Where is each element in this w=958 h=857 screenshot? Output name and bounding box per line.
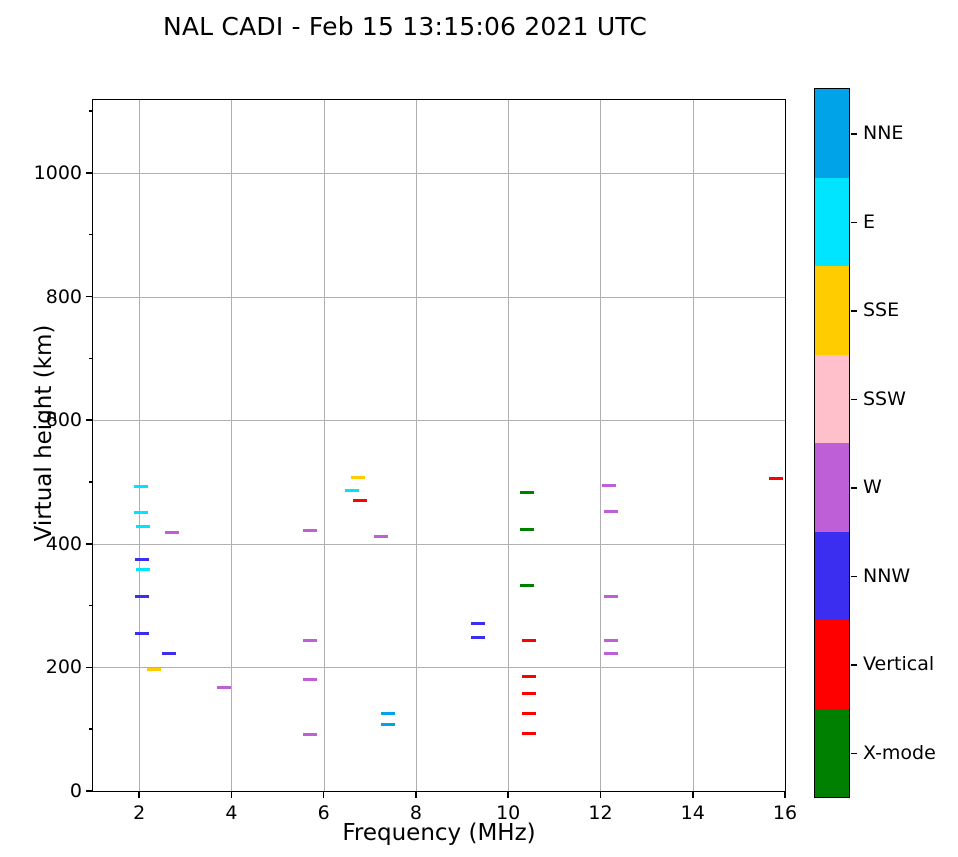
data-mark-w — [604, 639, 618, 642]
data-mark-nne — [381, 723, 395, 726]
data-mark-w — [374, 535, 388, 538]
colorbar-segment-nnw[interactable] — [815, 532, 849, 621]
plot-area: 02004006008001000246810121416 — [92, 99, 786, 792]
x-axis-tick — [138, 791, 140, 798]
data-mark-nnw — [162, 652, 176, 655]
colorbar-tick — [851, 487, 857, 488]
x-axis-tick — [784, 791, 786, 798]
colorbar-label-x-mode: X-mode — [863, 742, 936, 764]
colorbar-segment-vertical[interactable] — [815, 620, 849, 709]
y-axis-tick-label: 0 — [70, 780, 82, 802]
data-mark-w — [604, 510, 618, 513]
data-layer — [93, 100, 785, 791]
data-mark-w — [303, 639, 317, 642]
data-mark-nnw — [135, 595, 149, 598]
data-mark-x-mode — [520, 491, 534, 494]
y-axis-minor-tick — [89, 358, 93, 359]
data-mark-sse — [351, 476, 365, 479]
data-mark-w — [303, 733, 317, 736]
colorbar-segment-ssw[interactable] — [815, 355, 849, 444]
y-axis-tick — [86, 296, 93, 298]
y-axis-minor-tick — [89, 234, 93, 235]
y-axis-minor-tick — [89, 481, 93, 482]
data-mark-nne — [381, 712, 395, 715]
y-axis-label: Virtual height (km) — [31, 133, 57, 733]
data-mark-x-mode — [520, 584, 534, 587]
colorbar-segment-nne[interactable] — [815, 89, 849, 178]
page-title: NAL CADI - Feb 15 13:15:06 2021 UTC — [0, 12, 810, 41]
colorbar-segment-sse[interactable] — [815, 266, 849, 355]
data-mark-w — [165, 531, 179, 534]
x-axis-tick — [692, 791, 694, 798]
y-axis-minor-tick — [89, 110, 93, 111]
y-axis-tick — [86, 172, 93, 174]
x-axis-tick — [507, 791, 509, 798]
data-mark-x-mode — [520, 528, 534, 531]
colorbar-label-e: E — [863, 211, 875, 233]
colorbar-tick — [851, 310, 857, 311]
colorbar-label-nne: NNE — [863, 122, 903, 144]
data-mark-nnw — [135, 632, 149, 635]
data-mark-e — [134, 511, 148, 514]
colorbar-tick — [851, 576, 857, 577]
data-mark-e — [345, 489, 359, 492]
x-axis-label: Frequency (MHz) — [92, 820, 786, 846]
colorbar-tick — [851, 222, 857, 223]
x-axis-tick — [415, 791, 417, 798]
colorbar-segment-x-mode[interactable] — [815, 709, 849, 798]
data-mark-nnw — [135, 558, 149, 561]
data-mark-nnw — [471, 636, 485, 639]
data-mark-vertical — [522, 712, 536, 715]
data-mark-w — [604, 595, 618, 598]
data-mark-vertical — [522, 675, 536, 678]
x-axis-tick — [600, 791, 602, 798]
data-mark-sse — [147, 668, 161, 671]
y-axis-tick — [86, 790, 93, 792]
data-mark-nnw — [471, 622, 485, 625]
colorbar-tick — [851, 664, 857, 665]
data-mark-vertical — [522, 732, 536, 735]
colorbar-label-vertical: Vertical — [863, 653, 934, 675]
data-mark-vertical — [769, 477, 783, 480]
ionogram-figure: NAL CADI - Feb 15 13:15:06 2021 UTC 0200… — [0, 0, 958, 857]
data-mark-w — [604, 652, 618, 655]
colorbar-legend: NNEESSESSWWNNWVerticalX-mode — [814, 88, 850, 798]
y-axis-tick — [86, 419, 93, 421]
data-mark-e — [136, 525, 150, 528]
data-mark-w — [303, 678, 317, 681]
data-mark-vertical — [522, 692, 536, 695]
colorbar-tick — [851, 133, 857, 134]
data-mark-w — [602, 484, 616, 487]
colorbar-label-nnw: NNW — [863, 565, 910, 587]
data-mark-e — [134, 485, 148, 488]
data-mark-vertical — [522, 639, 536, 642]
data-mark-w — [217, 686, 231, 689]
data-mark-vertical — [353, 499, 367, 502]
y-axis-tick — [86, 667, 93, 669]
data-mark-e — [136, 568, 150, 571]
colorbar-label-w: W — [863, 476, 882, 498]
y-axis-tick — [86, 543, 93, 545]
colorbar-label-sse: SSE — [863, 299, 899, 321]
colorbar-segment-w[interactable] — [815, 443, 849, 532]
x-axis-tick — [323, 791, 325, 798]
colorbar-tick — [851, 753, 857, 754]
x-axis-tick — [231, 791, 233, 798]
colorbar-segment-e[interactable] — [815, 178, 849, 267]
colorbar-label-ssw: SSW — [863, 388, 906, 410]
data-mark-w — [303, 529, 317, 532]
y-axis-minor-tick — [89, 728, 93, 729]
y-axis-minor-tick — [89, 605, 93, 606]
colorbar-tick — [851, 399, 857, 400]
